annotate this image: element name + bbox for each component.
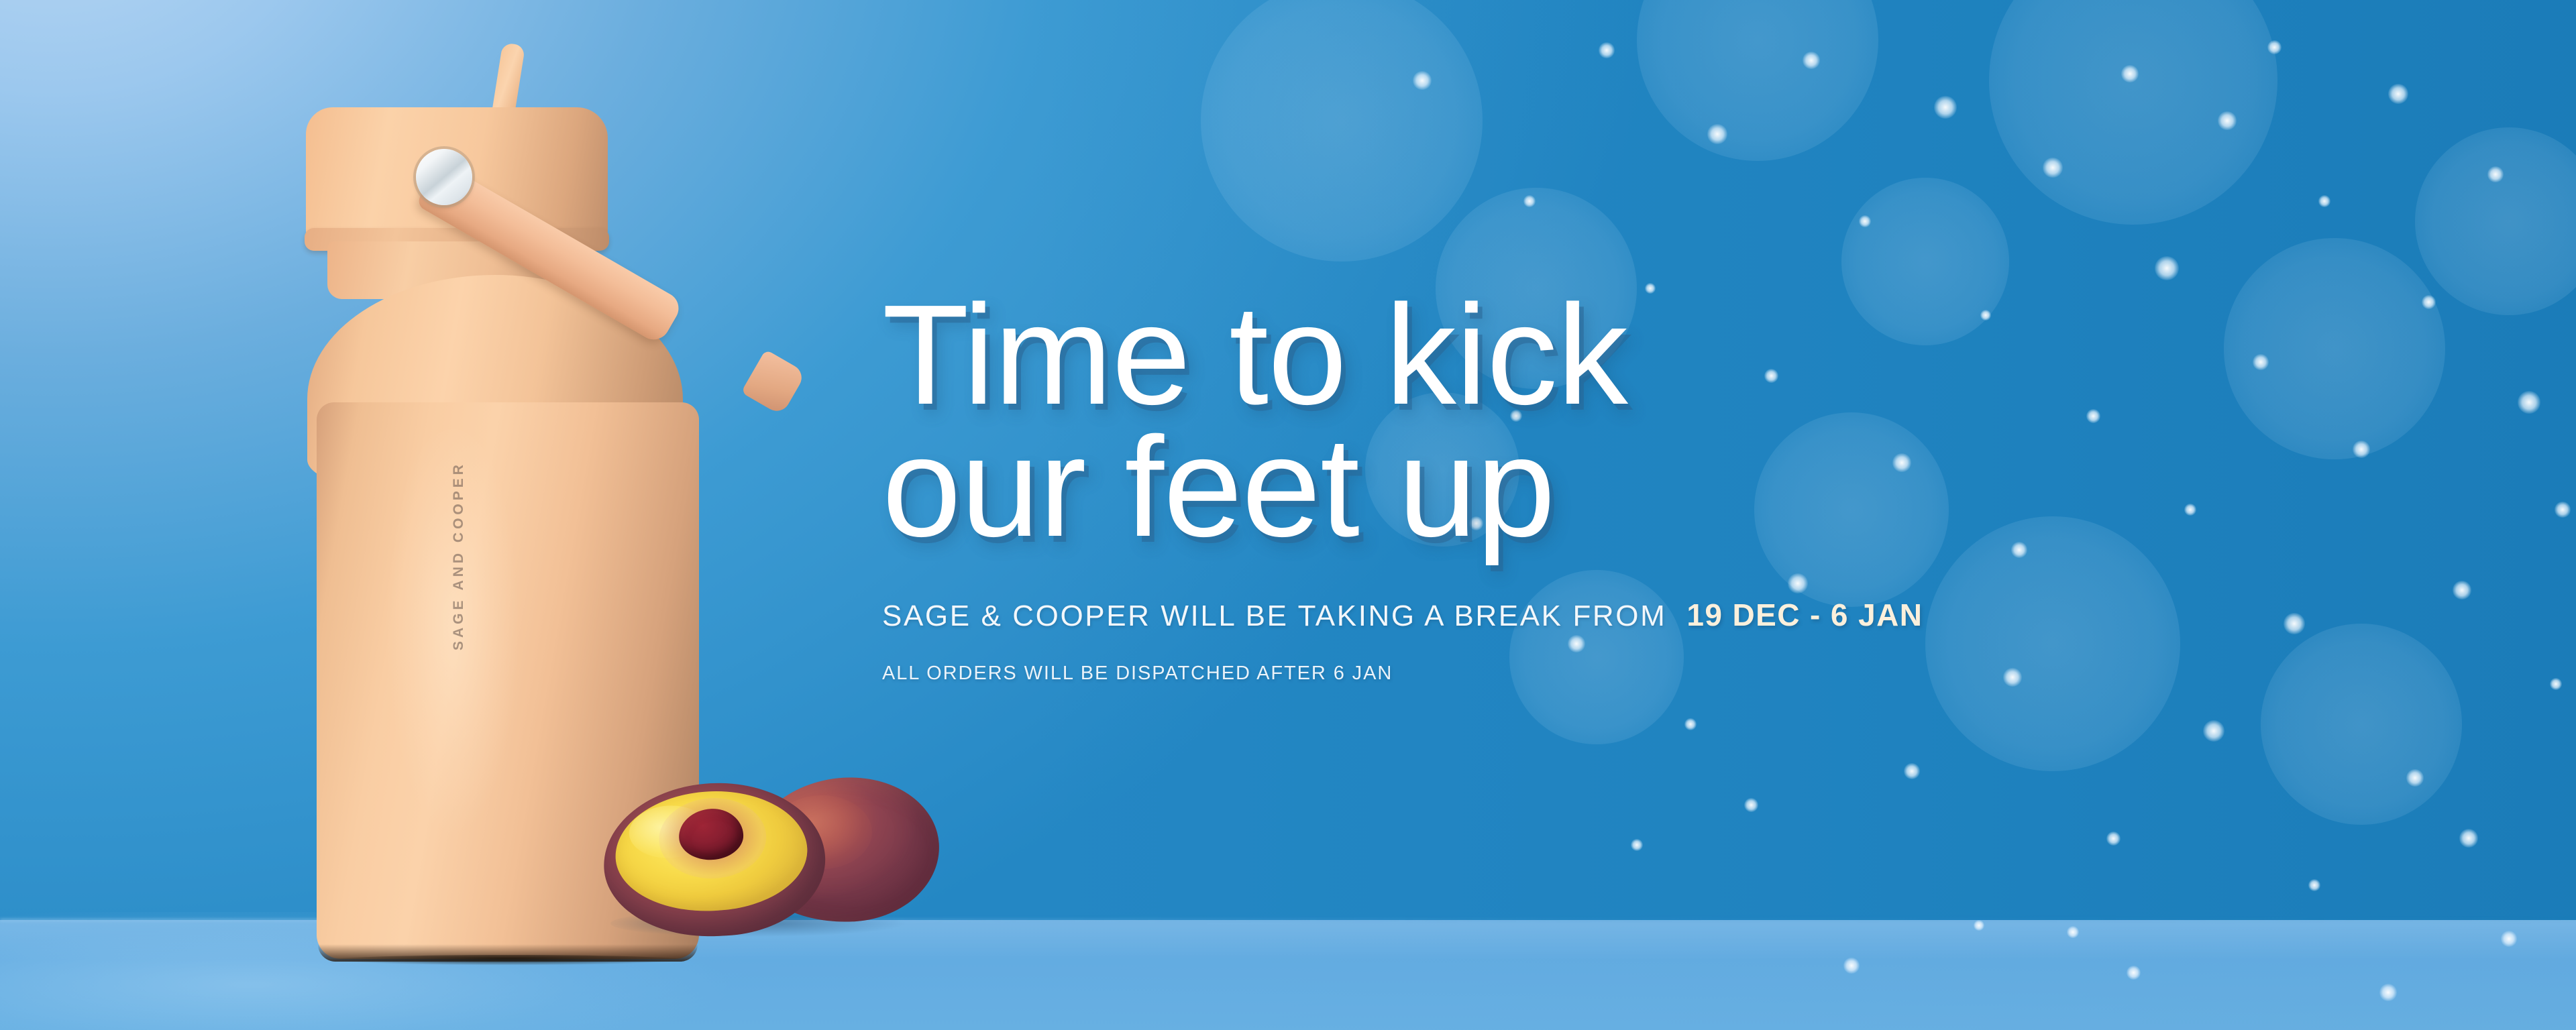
banner-copy-block: Time to kick our feet up SAGE & COOPER W…	[882, 288, 2291, 685]
dispatch-notice: ALL ORDERS WILL BE DISPATCHED AFTER 6 JA…	[882, 663, 2291, 685]
headline-line-1: Time to kick	[882, 288, 2291, 420]
bottle-brand-label: SAGE AND COOPER	[451, 436, 467, 650]
subheading-text: SAGE & COOPER WILL BE TAKING A BREAK FRO…	[882, 599, 1666, 633]
promotional-banner: SAGE AND COOPER Time to kick our feet up…	[0, 0, 2576, 1030]
subheading-row: SAGE & COOPER WILL BE TAKING A BREAK FRO…	[882, 597, 2291, 633]
break-date-range: 19 DEC - 6 JAN	[1686, 597, 1923, 633]
peach-fruit-group	[604, 771, 966, 972]
bottle-lid-button-icon	[416, 149, 472, 205]
headline-line-2: our feet up	[882, 420, 2291, 553]
